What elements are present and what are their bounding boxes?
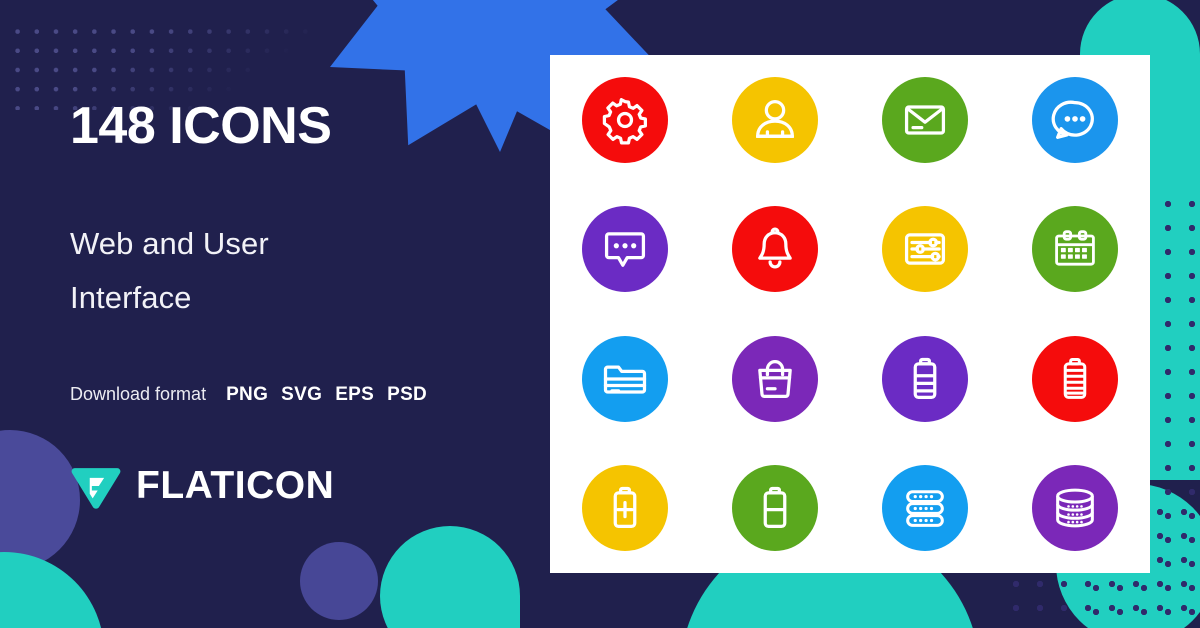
format-psd[interactable]: PSD — [387, 384, 427, 406]
folder-file-icon — [599, 353, 651, 405]
user-icon — [749, 94, 801, 146]
icon-cell-database[interactable] — [1032, 465, 1118, 551]
download-format-list: PNG SVG EPS PSD — [226, 384, 427, 406]
download-format-label: Download format — [70, 384, 206, 405]
shopping-bag-icon — [749, 353, 801, 405]
battery-half-icon — [899, 353, 951, 405]
icon-cell-sliders[interactable] — [882, 206, 968, 292]
icon-cell-bell[interactable] — [732, 206, 818, 292]
teal-rounded-square — [380, 526, 520, 628]
icon-cell-message-box[interactable] — [582, 206, 668, 292]
sliders-icon — [899, 223, 951, 275]
message-box-icon — [599, 223, 651, 275]
banner-stage: 148 ICONS Web and User Interface Downloa… — [0, 0, 1200, 628]
calendar-icon — [1049, 223, 1101, 275]
server-icon — [899, 482, 951, 534]
gear-icon — [599, 94, 651, 146]
page-title: 148 ICONS — [70, 98, 510, 155]
icon-cell-envelope[interactable] — [882, 77, 968, 163]
hero-subtitle-line1: Web and User — [70, 217, 510, 271]
envelope-icon — [899, 94, 951, 146]
battery-minus-icon — [749, 482, 801, 534]
teal-left-edge-shape — [0, 552, 104, 628]
hero-subtitle: Web and User Interface — [70, 217, 510, 326]
icon-cell-server[interactable] — [882, 465, 968, 551]
icon-cell-shopping-bag[interactable] — [732, 336, 818, 422]
icon-cell-gear[interactable] — [582, 77, 668, 163]
icon-cell-user[interactable] — [732, 77, 818, 163]
icon-cell-battery-half[interactable] — [882, 336, 968, 422]
download-format-row: Download format PNG SVG EPS PSD — [70, 384, 510, 406]
brand-name: FLATICON — [136, 464, 334, 508]
icon-cell-chat-bubble[interactable] — [1032, 77, 1118, 163]
icon-preview-card — [550, 55, 1150, 573]
icon-cell-battery-full[interactable] — [1032, 336, 1118, 422]
icon-cell-folder-file[interactable] — [582, 336, 668, 422]
icon-cell-battery-plus[interactable] — [582, 465, 668, 551]
format-png[interactable]: PNG — [226, 384, 268, 406]
battery-full-icon — [1049, 353, 1101, 405]
chat-bubble-icon — [1049, 94, 1101, 146]
hero-text-column: 148 ICONS Web and User Interface Downloa… — [70, 98, 510, 406]
brand-lockup[interactable]: FLATICON — [70, 460, 334, 512]
database-icon — [1049, 482, 1101, 534]
indigo-circle-left — [0, 430, 80, 570]
flaticon-logo-icon — [70, 460, 122, 512]
icon-cell-calendar[interactable] — [1032, 206, 1118, 292]
hero-subtitle-line2: Interface — [70, 271, 510, 325]
battery-plus-icon — [599, 482, 651, 534]
icon-grid — [550, 55, 1150, 573]
format-svg[interactable]: SVG — [281, 384, 322, 406]
format-eps[interactable]: EPS — [335, 384, 374, 406]
bell-icon — [749, 223, 801, 275]
icon-cell-battery-minus[interactable] — [732, 465, 818, 551]
indigo-circle-small — [300, 542, 378, 620]
